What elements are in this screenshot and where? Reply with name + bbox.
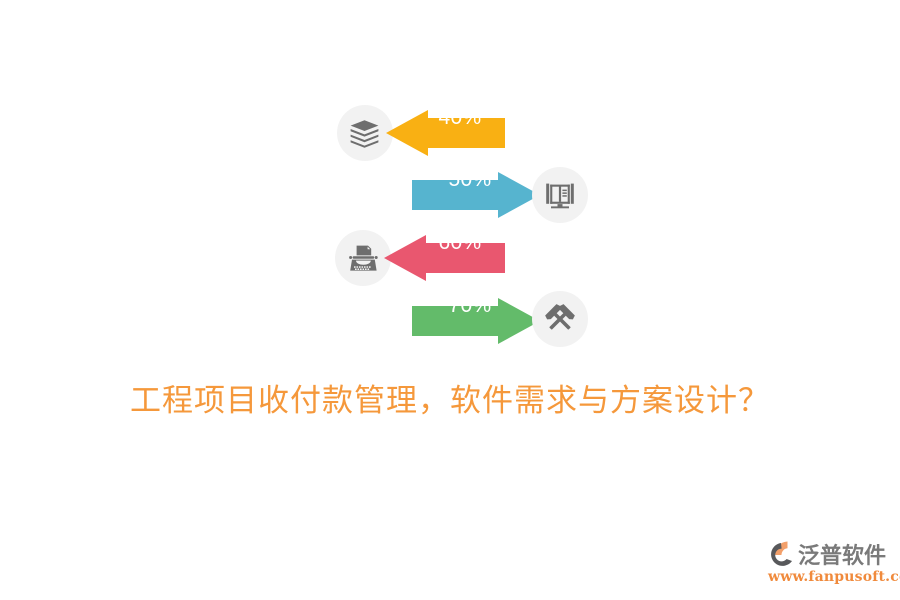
watermark-brand-name: 泛普软件 [798,538,886,570]
arrow-50-percent [412,172,540,218]
page-title: 工程项目收付款管理，软件需求与方案设计？ [0,375,900,420]
watermark-logo: 泛普软件 www.fanpusoft.com [766,537,896,593]
watermark-brand-row: 泛普软件 [766,537,896,571]
arrow-70-percent [412,298,540,344]
badge-typewriter [335,230,391,286]
watermark-url: www.fanpusoft.com [768,569,896,585]
arrow-60-percent [384,235,505,281]
badge-hammers [532,291,588,347]
crossed-hammers-icon [542,301,578,337]
fanpu-logo-icon [766,539,796,569]
arrow-40-percent [386,110,505,156]
canvas: 40% 50% [0,0,900,600]
diagram-row-2: 50% [330,157,600,219]
diagram-row-4: 70% [330,283,600,345]
badge-books [337,105,393,161]
diagram-row-3: 60% [330,220,600,282]
open-book-icon [543,178,577,212]
badge-open-book [532,167,588,223]
typewriter-icon [346,241,380,275]
diagram-row-1: 40% [330,95,600,157]
books-stack-icon [348,116,382,150]
arrow-process-diagram: 40% 50% [330,95,600,360]
